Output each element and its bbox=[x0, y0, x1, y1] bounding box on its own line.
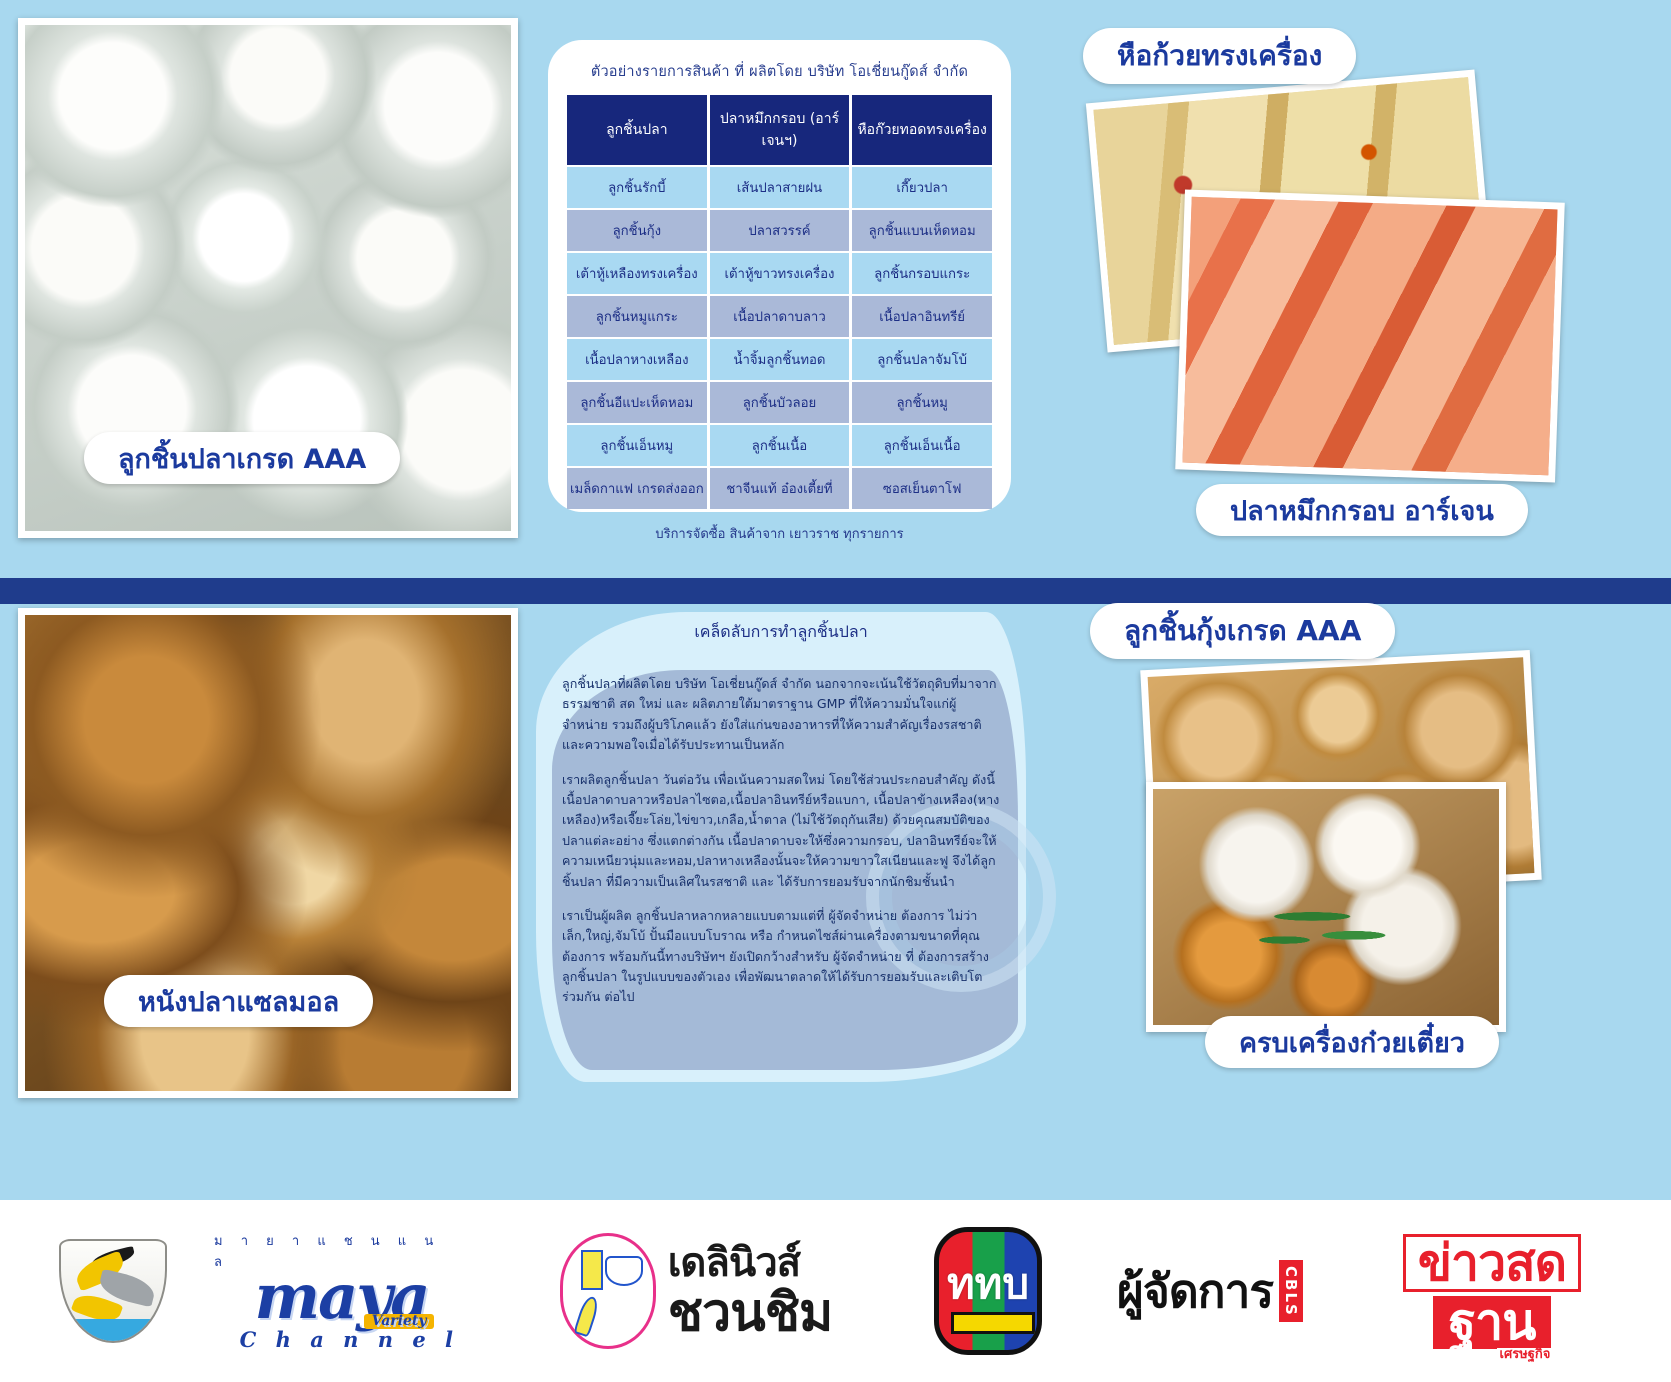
table-cell: เนื้อปลาดาบลาว bbox=[710, 296, 850, 337]
table-cell: เต้าหู้ขาวทรงเครื่อง bbox=[710, 253, 850, 294]
bowl-shape bbox=[59, 1239, 167, 1343]
tips-card: เคล็ดลับการทำลูกชิ้นปลา ลูกชิ้นปลาที่ผลิ… bbox=[536, 612, 1026, 1082]
khaosod-than-logo: ข่าวสด ฐาน เศรษฐกิจ bbox=[1367, 1234, 1617, 1349]
table-row: ลูกชิ้นอีแปะเห็ดหอม ลูกชิ้นบัวลอย ลูกชิ้… bbox=[567, 382, 992, 423]
table-cell: ซอสเย็นตาโฟ bbox=[852, 468, 992, 509]
tips-heading: เคล็ดลับการทำลูกชิ้นปลา bbox=[536, 620, 1026, 645]
phujatkarn-text: ผู้จัดการ bbox=[1117, 1268, 1273, 1314]
dailynews-mark-icon bbox=[560, 1233, 656, 1349]
product-table-footnote: บริการจัดซื้อ สินค้าจาก เยาวราช ทุกรายกา… bbox=[564, 511, 995, 544]
dailynews-chuanchim-logo: เดลินิวส์ ชวนชิม bbox=[511, 1233, 881, 1349]
than-text: ฐาน เศรษฐกิจ bbox=[1433, 1296, 1552, 1349]
tips-paragraph: เราเป็นผู้ผลิต ลูกชิ้นปลาหลากหลายแบบตามแ… bbox=[562, 906, 1002, 1008]
table-cell: เส้นปลาสายฝน bbox=[710, 167, 850, 208]
table-cell: ลูกชิ้นเนื้อ bbox=[710, 425, 850, 466]
table-row: ลูกชิ้นเอ็นหมู ลูกชิ้นเนื้อ ลูกชิ้นเอ็นเ… bbox=[567, 425, 992, 466]
ttb-shield-icon: ททบ bbox=[934, 1227, 1042, 1355]
caption-fishball: ลูกชิ้นปลาเกรด AAA bbox=[84, 432, 400, 484]
table-cell: ลูกชิ้นรักบี้ bbox=[567, 167, 707, 208]
table-cell: เต้าหู้เหลืองทรงเครื่อง bbox=[567, 253, 707, 294]
dailynews-line-1: เดลินิวส์ bbox=[668, 1243, 833, 1283]
table-cell: เมล็ดกาแฟ เกรดส่งออก bbox=[567, 468, 707, 509]
grapes-icon bbox=[607, 1290, 645, 1332]
photo-squid-image bbox=[1182, 197, 1557, 476]
product-table-card: ตัวอย่างรายการสินค้า ที่ ผลิตโดย บริษัท … bbox=[548, 40, 1011, 512]
table-cell: ลูกชิ้นเอ็นหมู bbox=[567, 425, 707, 466]
table-header-row: ลูกชิ้นปลา ปลาหมึกกรอบ (อาร์เจนฯ) หือก๊ว… bbox=[567, 95, 992, 165]
fish-bowl-logo-icon bbox=[54, 1227, 172, 1355]
section-divider bbox=[0, 578, 1671, 604]
table-row: เต้าหู้เหลืองทรงเครื่อง เต้าหู้ขาวทรงเคร… bbox=[567, 253, 992, 294]
than-sub-text: เศรษฐกิจ bbox=[1497, 1348, 1554, 1362]
table-header-cell: หือก๊วยทอดทรงเครื่อง bbox=[852, 95, 992, 165]
table-row: ลูกชิ้นหมูแกระ เนื้อปลาดาบลาว เนื้อปลาอิ… bbox=[567, 296, 992, 337]
table-cell: ลูกชิ้นแบนเห็ดหอม bbox=[852, 210, 992, 251]
caption-shrimp-ball: ลูกชิ้นกุ้งเกรด AAA bbox=[1090, 603, 1395, 659]
table-cell: เนื้อปลาอินทรีย์ bbox=[852, 296, 992, 337]
tips-body: ลูกชิ้นปลาที่ผลิตโดย บริษัท โอเชี่ยนกู๊ด… bbox=[562, 674, 1002, 1022]
ttb-bar bbox=[951, 1312, 1035, 1334]
than-main-text: ฐาน bbox=[1449, 1293, 1536, 1351]
dailynews-text: เดลินิวส์ ชวนชิม bbox=[668, 1243, 833, 1339]
photo-squid bbox=[1175, 189, 1565, 482]
table-row: ลูกชิ้นรักบี้ เส้นปลาสายฝน เกี๊ยวปลา bbox=[567, 167, 992, 208]
table-row: ลูกชิ้นกุ้ง ปลาสวรรค์ ลูกชิ้นแบนเห็ดหอม bbox=[567, 210, 992, 251]
glass-icon bbox=[581, 1250, 603, 1290]
phujatkarn-logo: ผู้จัดการ CBLS bbox=[1095, 1260, 1325, 1323]
table-cell: ลูกชิ้นอีแปะเห็ดหอม bbox=[567, 382, 707, 423]
partner-logo-strip: ม า ย า แ ช น แ น ล maya Variety C h a n… bbox=[0, 1200, 1671, 1382]
product-table-title: ตัวอย่างรายการสินค้า ที่ ผลิตโดย บริษัท … bbox=[564, 54, 995, 93]
photo-noodle-bowl bbox=[1146, 782, 1506, 1032]
maya-channel-logo: ม า ย า แ ช น แ น ล maya Variety C h a n… bbox=[214, 1230, 469, 1352]
spoon-icon bbox=[573, 1295, 601, 1338]
caption-squid: ปลาหมึกกรอบ อาร์เจน bbox=[1196, 484, 1528, 536]
table-cell: เกี๊ยวปลา bbox=[852, 167, 992, 208]
bowl-icon bbox=[605, 1256, 643, 1286]
table-cell: เนื้อปลาหางเหลือง bbox=[567, 339, 707, 380]
tips-paragraph: ลูกชิ้นปลาที่ผลิตโดย บริษัท โอเชี่ยนกู๊ด… bbox=[562, 674, 1002, 756]
table-cell: ปลาสวรรค์ bbox=[710, 210, 850, 251]
table-cell: ลูกชิ้นเอ็นเนื้อ bbox=[852, 425, 992, 466]
dailynews-line-2: ชวนชิม bbox=[668, 1287, 833, 1339]
poster-canvas: ลูกชิ้นปลาเกรด AAA หนังปลาแซลมอล ตัวอย่า… bbox=[0, 0, 1671, 1200]
ttb-channel-logo: ททบ bbox=[923, 1227, 1053, 1355]
table-cell: น้ำจิ้มลูกชิ้นทอด bbox=[710, 339, 850, 380]
table-row: เมล็ดกาแฟ เกรดส่งออก ชาจีนแท้ อ๋องเตี้ยท… bbox=[567, 468, 992, 509]
table-cell: ลูกชิ้นกุ้ง bbox=[567, 210, 707, 251]
table-header-cell: ลูกชิ้นปลา bbox=[567, 95, 707, 165]
table-header-cell: ปลาหมึกกรอบ (อาร์เจนฯ) bbox=[710, 95, 850, 165]
water-band bbox=[61, 1319, 167, 1341]
caption-salmon-skin: หนังปลาแซลมอล bbox=[104, 975, 373, 1027]
khaosod-text: ข่าวสด bbox=[1403, 1234, 1581, 1293]
maya-wordmark: maya Variety bbox=[255, 1268, 429, 1327]
table-row: เนื้อปลาหางเหลือง น้ำจิ้มลูกชิ้นทอด ลูกช… bbox=[567, 339, 992, 380]
table-cell: ชาจีนแท้ อ๋องเตี้ยที่ bbox=[710, 468, 850, 509]
tips-paragraph: เราผลิตลูกชิ้นปลา วันต่อวัน เพื่อเน้นควา… bbox=[562, 770, 1002, 892]
photo-noodle-bowl-image bbox=[1153, 789, 1499, 1025]
phujatkarn-tag: CBLS bbox=[1279, 1260, 1303, 1323]
table-cell: ลูกชิ้นกรอบแกระ bbox=[852, 253, 992, 294]
table-cell: ลูกชิ้นบัวลอย bbox=[710, 382, 850, 423]
table-cell: ลูกชิ้นหมู bbox=[852, 382, 992, 423]
product-table: ลูกชิ้นปลา ปลาหมึกกรอบ (อาร์เจนฯ) หือก๊ว… bbox=[564, 93, 995, 511]
maya-variety-badge: Variety bbox=[364, 1314, 435, 1329]
caption-hoi-kuay: หือก้วยทรงเครื่อง bbox=[1083, 28, 1356, 84]
table-cell: ลูกชิ้นปลาจัมโบ้ bbox=[852, 339, 992, 380]
caption-noodle-bowl: ครบเครื่องก๋วยเตี๋ยว bbox=[1205, 1016, 1499, 1068]
ttb-glyph-text: ททบ bbox=[947, 1251, 1029, 1317]
table-cell: ลูกชิ้นหมูแกระ bbox=[567, 296, 707, 337]
